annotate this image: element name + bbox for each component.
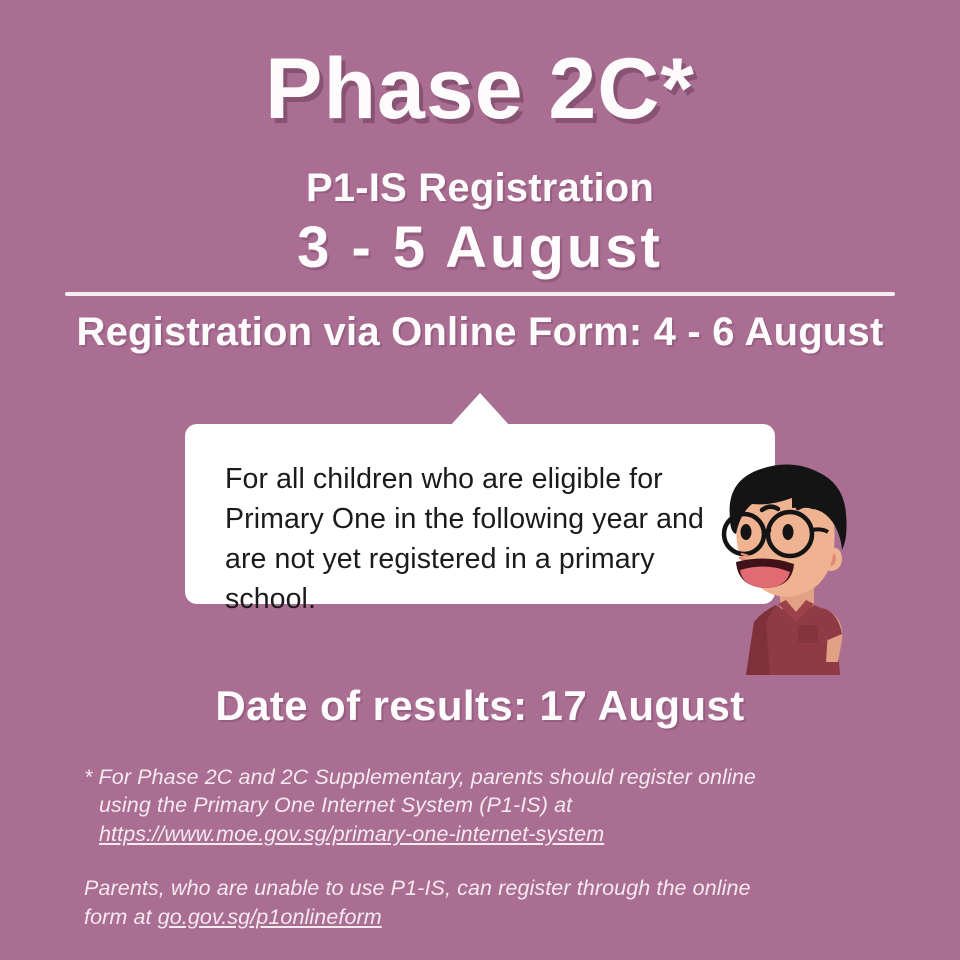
online-form-url-link[interactable]: go.gov.sg/p1onlineform	[158, 905, 382, 929]
online-form-dates: Registration via Online Form: 4 - 6 Augu…	[0, 310, 960, 355]
speech-bubble-tail	[450, 393, 510, 426]
registration-subtitle: P1-IS Registration	[0, 166, 960, 211]
poster-canvas: Phase 2C* P1-IS Registration 3 - 5 Augus…	[0, 0, 960, 960]
p1is-url-link[interactable]: https://www.moe.gov.sg/primary-one-inter…	[84, 820, 894, 848]
speech-bubble: For all children who are eligible for Pr…	[185, 424, 775, 604]
footnote-p1is-line1: * For Phase 2C and 2C Supplementary, par…	[84, 765, 756, 789]
footnote-online-form-line1: Parents, who are unable to use P1-IS, ca…	[84, 876, 751, 900]
speech-bubble-text: For all children who are eligible for Pr…	[225, 460, 745, 620]
footnote-p1is-line2: using the Primary One Internet System (P…	[84, 791, 894, 819]
page-title: Phase 2C*	[0, 44, 960, 134]
boy-with-glasses-illustration	[718, 462, 898, 677]
footnote-p1is: * For Phase 2C and 2C Supplementary, par…	[84, 763, 894, 848]
horizontal-divider	[65, 292, 895, 296]
registration-dates: 3 - 5 August	[0, 214, 960, 281]
footnote-online-form: Parents, who are unable to use P1-IS, ca…	[84, 874, 894, 931]
results-date-line: Date of results: 17 August	[0, 682, 960, 730]
footnote-online-form-line2-prefix: form at	[84, 905, 158, 929]
footnotes: * For Phase 2C and 2C Supplementary, par…	[84, 763, 894, 931]
